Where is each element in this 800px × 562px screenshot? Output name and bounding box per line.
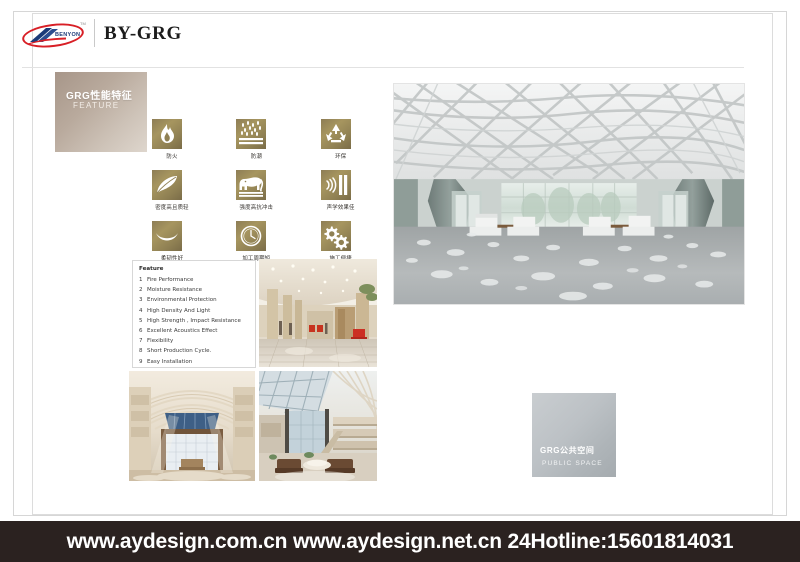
list-item-number: 3 (139, 295, 147, 305)
list-item-number: 7 (139, 336, 147, 346)
list-item: 9Easy Installation (139, 357, 251, 367)
list-item-number: 6 (139, 326, 147, 336)
list-item-text: High Density And Light (147, 308, 210, 314)
recycle-icon (321, 119, 351, 149)
feature-item-production-cycle: 加工周期短 (236, 221, 276, 264)
trademark-mark: TM (80, 21, 86, 26)
clock-icon (236, 221, 266, 251)
feature-label: 密度高且质轻 (139, 203, 205, 211)
footer-banner-text: www.aydesign.com.cn www.aydesign.net.cn … (67, 530, 734, 554)
feature-label: 环保 (308, 152, 374, 160)
benyon-oval-logo: BENYON TM (22, 20, 86, 50)
hero-photo-grg-ceiling-lobby (393, 83, 745, 305)
thumbnail-photo-glass-roof-lounge (259, 371, 377, 481)
feature-item-strength: 强度高抗冲击 (236, 170, 276, 213)
list-item-number: 5 (139, 316, 147, 326)
feather-icon (152, 170, 182, 200)
list-item-text: Fire Performance (147, 277, 193, 283)
list-item-number: 9 (139, 357, 147, 367)
feature-label: 强度高抗冲击 (223, 203, 289, 211)
thumbnail-photo-beige-lobby (259, 259, 377, 367)
gears-icon (321, 221, 351, 251)
feature-item-flexibility: 柔韧性好 (152, 221, 192, 264)
list-item: 8Short Production Cycle. (139, 346, 251, 356)
list-item-text: Flexibility (147, 338, 173, 344)
header-divider (94, 19, 95, 47)
feature-title-panel: GRG性能特征 FEATURE (55, 72, 147, 152)
feature-item-moisture: 防潮 (236, 119, 276, 162)
list-item: 6Excellent Acoustics Effect (139, 326, 251, 336)
feature-label: 声学效果佳 (308, 203, 374, 211)
feature-list-items: 1Fire Performance 2Moisture Resistance 3… (139, 275, 251, 367)
feature-title-cn: GRG性能特征 (66, 87, 132, 102)
rain-moisture-icon (236, 119, 266, 149)
feature-title-en: FEATURE (73, 101, 120, 110)
list-item-number: 1 (139, 275, 147, 285)
list-item: 1Fire Performance (139, 275, 251, 285)
list-item-number: 2 (139, 285, 147, 295)
list-item-text: Easy Installation (147, 359, 192, 365)
feature-item-easy-installation: 施工便捷 (321, 221, 361, 264)
feature-label: 防火 (139, 152, 205, 160)
soundwave-icon (321, 170, 351, 200)
list-item-text: Short Production Cycle. (147, 348, 211, 354)
feature-item-fireproof: 防火 (152, 119, 192, 162)
footer-banner: www.aydesign.com.cn www.aydesign.net.cn … (0, 521, 800, 562)
list-item-text: Excellent Acoustics Effect (147, 328, 217, 334)
list-item-number: 4 (139, 306, 147, 316)
list-item: 2Moisture Resistance (139, 285, 251, 295)
curve-bend-icon (152, 221, 182, 251)
brochure-page: BENYON TM BY-GRG GRG性能特征 FEATURE 防火 (0, 0, 800, 562)
feature-item-acoustics: 声学效果佳 (321, 170, 361, 213)
feature-item-light-density: 密度高且质轻 (152, 170, 192, 213)
public-space-title-cn: GRG公共空间 (540, 445, 594, 456)
feature-list-box: Feature 1Fire Performance 2Moisture Resi… (132, 260, 256, 368)
list-item: 5High Strength , Impact Resistance (139, 316, 251, 326)
page-header: BENYON TM BY-GRG (22, 18, 722, 62)
list-item: 3Environmental Protection (139, 295, 251, 305)
feature-icon-grid: 防火 防潮 (152, 119, 367, 264)
feature-list-heading: Feature (139, 266, 251, 272)
flame-icon (152, 119, 182, 149)
elephant-icon (236, 170, 266, 200)
list-item-text: High Strength , Impact Resistance (147, 318, 241, 324)
list-item-text: Environmental Protection (147, 297, 217, 303)
feature-label: 防潮 (223, 152, 289, 160)
logo-wordmark: BENYON (55, 32, 80, 38)
public-space-title-en: PUBLIC SPACE (542, 460, 603, 467)
list-item: 4High Density And Light (139, 306, 251, 316)
public-space-panel: GRG公共空间 PUBLIC SPACE (532, 393, 616, 477)
header-rule (22, 67, 744, 68)
thumbnail-photo-skylight-atrium (129, 371, 255, 481)
list-item-text: Moisture Resistance (147, 287, 202, 293)
list-item-number: 8 (139, 346, 147, 356)
feature-item-eco: 环保 (321, 119, 361, 162)
page-title: BY-GRG (104, 23, 182, 45)
list-item: 7Flexibility (139, 336, 251, 346)
